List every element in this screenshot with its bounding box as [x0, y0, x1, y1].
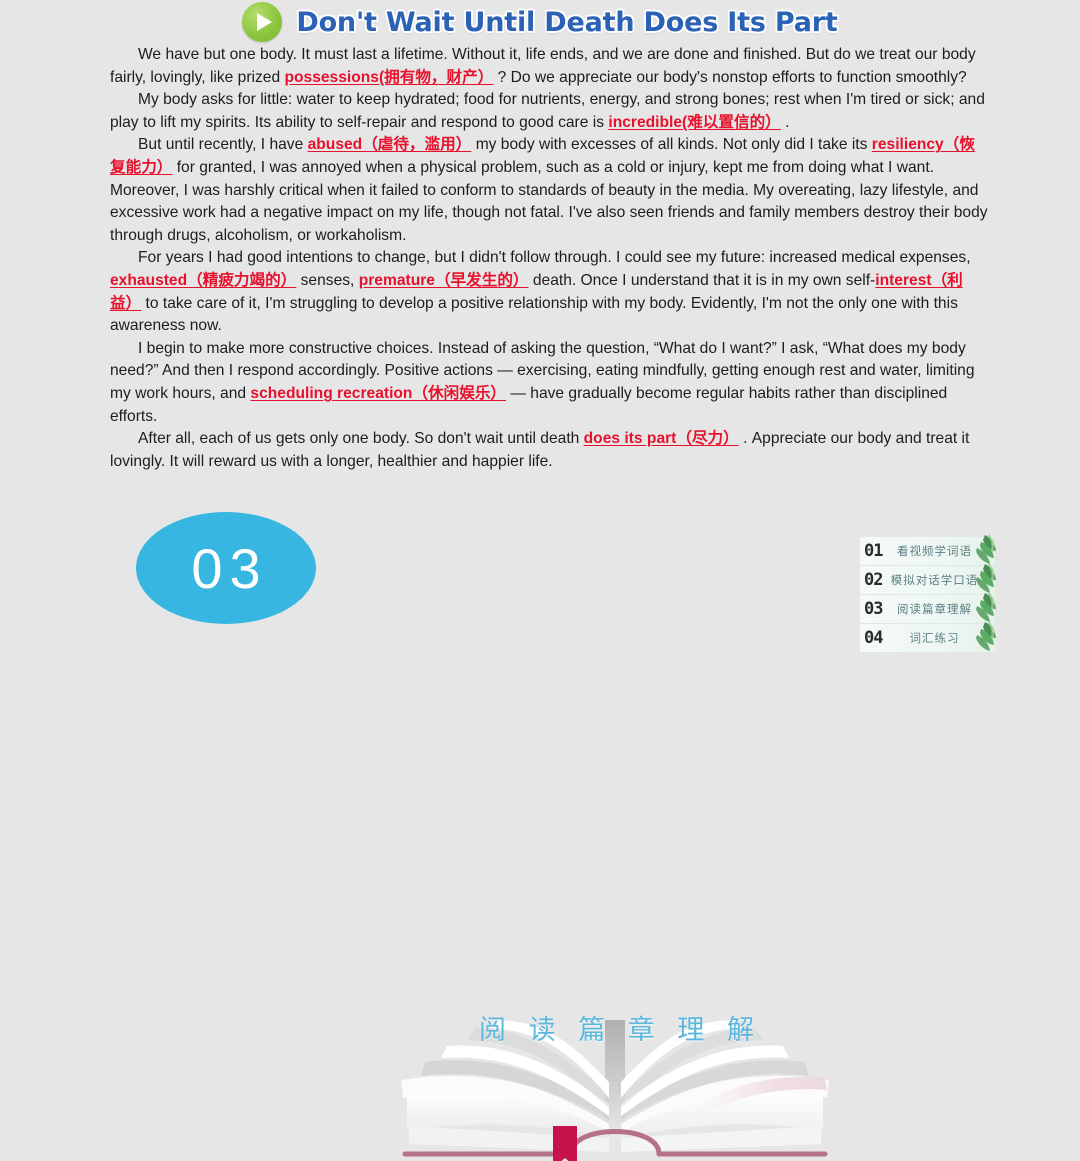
menu-item-03[interactable]: 03阅读篇章理解 — [860, 595, 995, 624]
article-paragraph: But until recently, I have abused（虐待，滥用）… — [110, 134, 990, 247]
menu-item-label: 词汇练习 — [890, 630, 995, 646]
menu-item-01[interactable]: 01看视频学词语 — [860, 537, 995, 566]
vocab-term[interactable]: premature（早发生的） — [359, 272, 529, 289]
section-heading-zh: 阅 读 篇 章 理 解 — [470, 1008, 770, 1047]
play-icon[interactable] — [242, 2, 282, 42]
article-body: We have but one body. It must last a lif… — [110, 44, 990, 473]
vocab-term[interactable]: abused（虐待，滥用） — [308, 136, 472, 153]
menu-item-label: 模拟对话学口语 — [890, 572, 995, 588]
article-text: ? Do we appreciate our body's nonstop ef… — [493, 69, 966, 86]
article-text: for granted, I was annoyed when a physic… — [110, 159, 988, 244]
menu-item-04[interactable]: 04词汇练习 — [860, 624, 995, 653]
page-title: Don't Wait Until Death Does Its Part — [296, 7, 837, 38]
menu-item-number: 04 — [864, 628, 890, 648]
menu-item-number: 02 — [864, 570, 890, 590]
article-text: For years I had good intentions to chang… — [138, 249, 971, 266]
vocab-term[interactable]: exhausted（精疲力竭的） — [110, 272, 296, 289]
menu-item-label: 阅读篇章理解 — [890, 601, 995, 617]
vocab-term[interactable]: does its part（尽力） — [584, 430, 739, 447]
menu-item-02[interactable]: 02模拟对话学口语 — [860, 566, 995, 595]
section-number: 03 — [184, 536, 267, 601]
menu-item-number: 01 — [864, 541, 890, 561]
article-text: My body asks for little: water to keep h… — [110, 91, 985, 131]
article-text: senses, — [296, 272, 358, 289]
lesson-menu: 01看视频学词语02模拟对话学口语03阅读篇章理解04词汇练习 — [860, 537, 995, 653]
section-number-badge: 03 — [136, 512, 316, 624]
article-text: . — [781, 114, 790, 131]
menu-item-label: 看视频学词语 — [890, 543, 995, 559]
article-text: After all, each of us gets only one body… — [138, 430, 584, 447]
article-paragraph: For years I had good intentions to chang… — [110, 247, 990, 337]
article-paragraph: We have but one body. It must last a lif… — [110, 44, 990, 89]
menu-item-number: 03 — [864, 599, 890, 619]
article-paragraph: My body asks for little: water to keep h… — [110, 89, 990, 134]
article-text: to take care of it, I'm struggling to de… — [110, 295, 958, 335]
article-paragraph: After all, each of us gets only one body… — [110, 428, 990, 473]
vocab-term[interactable]: incredible(难以置信的） — [608, 114, 780, 131]
slide-header: Don't Wait Until Death Does Its Part — [0, 0, 1080, 44]
play-triangle-icon — [257, 13, 272, 31]
article-text: my body with excesses of all kinds. Not … — [471, 136, 871, 153]
article-paragraph: I begin to make more constructive choice… — [110, 338, 990, 428]
vocab-term[interactable]: scheduling recreation（休闲娱乐） — [250, 385, 506, 402]
article-text: But until recently, I have — [138, 136, 308, 153]
article-text: death. Once I understand that it is in m… — [529, 272, 876, 289]
vocab-term[interactable]: possessions(拥有物，财产） — [284, 69, 493, 86]
